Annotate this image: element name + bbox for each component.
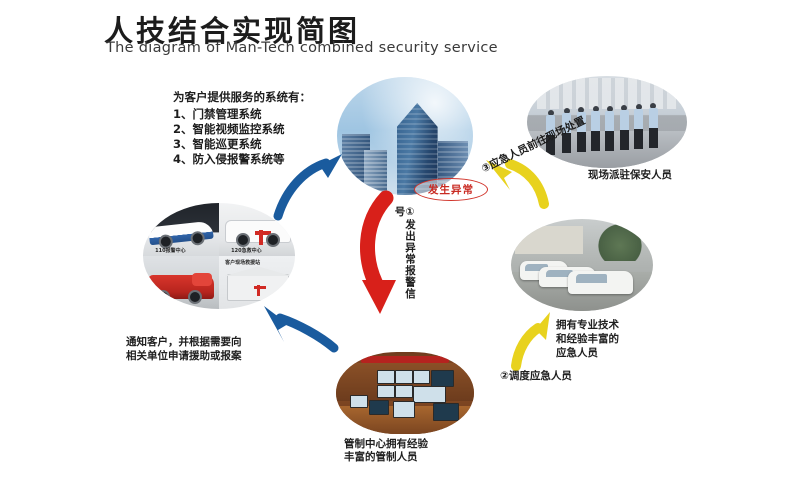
systems-list-item-4: 4、防入侵报警系统等 (173, 152, 285, 167)
flow-label-step-2: ②调度应急人员 (500, 370, 640, 384)
patrol-car (568, 271, 633, 295)
caption-control-center-2: 丰富的管制人员 (344, 451, 494, 465)
desk-monitor (393, 401, 416, 418)
page-title-en: The diagram of Man-Tech combined securit… (106, 40, 498, 56)
palm-trees (593, 223, 647, 262)
guard-figure (649, 103, 658, 148)
arrow-blue-to-emergency (258, 292, 338, 354)
guard-figure (634, 104, 643, 149)
wall-monitor (377, 370, 394, 383)
fire-truck-icon (148, 275, 215, 299)
desk-monitor (433, 403, 460, 421)
caption-control-center-1: 管制中心拥有经验 (344, 438, 494, 452)
caption-emergency-staff-2: 和经验丰富的 (556, 332, 676, 346)
police-car-icon (148, 221, 213, 246)
tile-label-relief: 客户现场救援站 (225, 259, 260, 266)
guard-figure (620, 105, 629, 150)
photo-onsite-guards (527, 76, 687, 168)
wall-monitor (395, 370, 412, 383)
wall-monitor (413, 370, 430, 383)
systems-list-heading: 为客户提供服务的系统有： (173, 90, 311, 105)
wall-monitor (377, 385, 394, 398)
wall-monitor (413, 386, 445, 403)
ceiling-band (361, 356, 449, 363)
building-left-2 (364, 150, 387, 195)
compound-wall (515, 226, 583, 254)
desk-monitor (350, 395, 369, 408)
systems-list-item-2: 2、智能视频监控系统 (173, 122, 285, 137)
caption-emergency-staff-3: 应急人员 (556, 346, 676, 360)
tile-label-police: 110报警中心 (155, 247, 185, 254)
wall-monitor (395, 385, 412, 398)
photo-control-center (336, 352, 474, 434)
guard-figure (591, 106, 600, 151)
systems-list-item-3: 3、智能巡更系统 (173, 137, 262, 152)
photo-patrol-cars (511, 219, 653, 311)
alert-badge: 发生异常 (414, 178, 488, 201)
arrow-yellow-dispatch (512, 310, 566, 370)
tile-police: 110报警中心 (143, 203, 219, 256)
desk-monitor (369, 400, 389, 415)
ambulance-icon (225, 220, 291, 243)
wall-monitor (431, 370, 454, 387)
diagram-canvas: 人技结合实现简图 The diagram of Man-Tech combine… (0, 0, 802, 477)
guard-figure (605, 106, 614, 151)
flow-label-step-1: ①发出异常报警信号 (394, 206, 415, 310)
caption-emergency-staff-1: 拥有专业技术 (556, 318, 676, 332)
arrow-blue-to-city (276, 150, 356, 222)
systems-list-item-1: 1、门禁管理系统 (173, 107, 262, 122)
tile-fire (143, 256, 219, 309)
caption-onsite-guards: 现场派驻保安人员 (588, 169, 718, 183)
tile-label-ambulance: 120急救中心 (231, 247, 261, 254)
